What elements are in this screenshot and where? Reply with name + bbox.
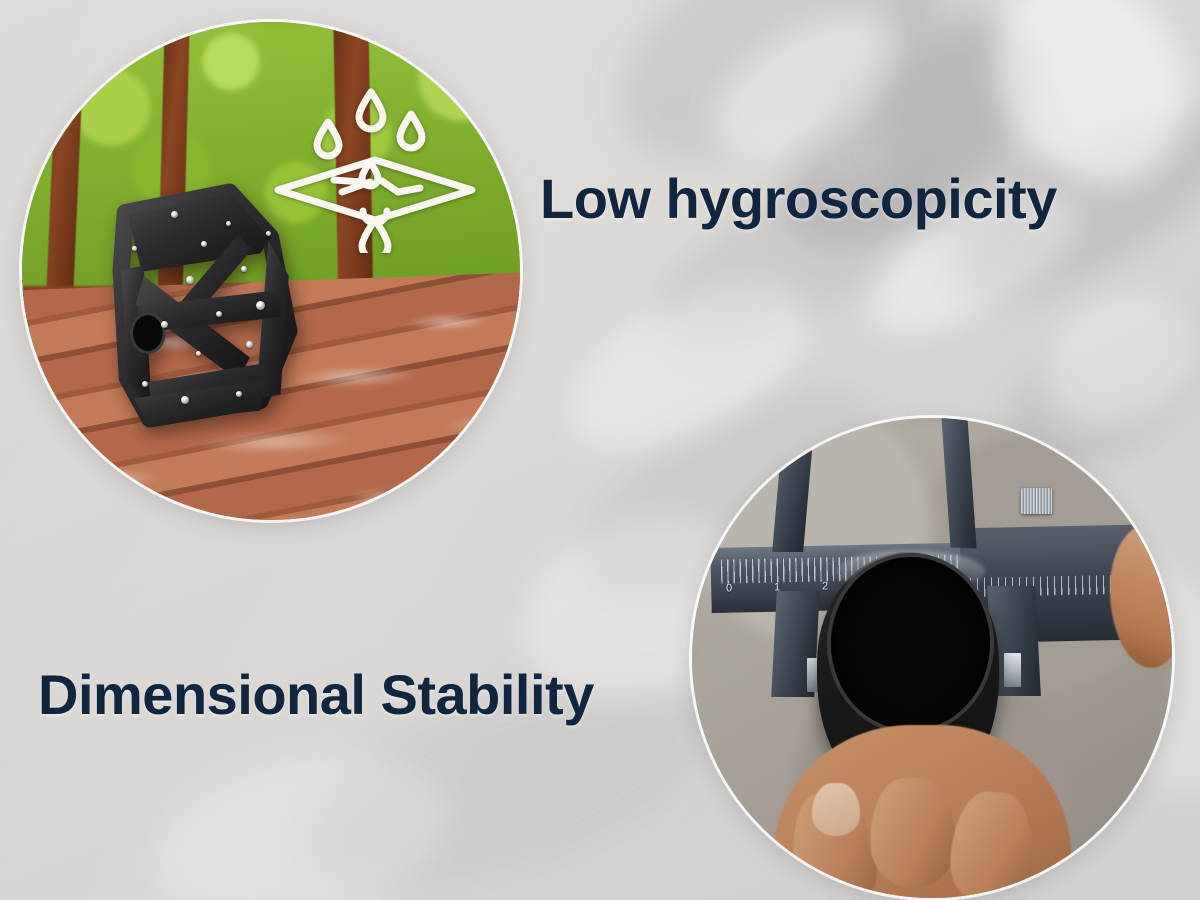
wet-deck-3d-printed-bracket-photo [22,22,520,520]
water-beads [22,22,520,520]
page-title-low-hygroscopicity: Low hygroscopicity [540,166,1057,231]
caliper-upper-moving-jaw [942,418,978,548]
caliper-upper-fixed-jaw [773,418,816,552]
caliper-measuring-tube-photo: 0 1 2 3 4 5 6 7 8 1/128 in [692,418,1172,898]
promo-graphic: 0 1 2 3 4 5 6 7 8 1/128 in [0,0,1200,900]
caliper-scene: 0 1 2 3 4 5 6 7 8 1/128 in [692,418,1172,898]
deck-scene [22,22,520,520]
tube-bore [831,557,989,730]
caliper-scale-number: 0 [726,582,774,595]
page-title-dimensional-stability: Dimensional Stability [38,662,594,727]
caliper-jaw-tip [1004,653,1021,687]
caliper-thumb-screw [1021,488,1052,514]
fingernail [812,783,860,836]
